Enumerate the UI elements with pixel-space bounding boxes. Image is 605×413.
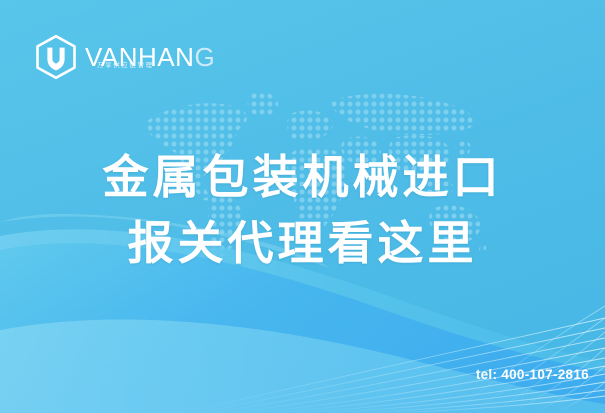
headline-line-1: 金属包装机械进口 bbox=[0, 144, 605, 210]
headline-line-2: 报关代理看这里 bbox=[0, 210, 605, 276]
brand-logo[interactable]: VANHANG 万享供应链管理 bbox=[34, 33, 215, 81]
brand-wordmark-tail: G bbox=[194, 42, 215, 72]
brand-wordmark-group: VANHANG 万享供应链管理 bbox=[85, 37, 215, 77]
brand-subtitle: 万享供应链管理 bbox=[97, 63, 154, 70]
headline-block: 金属包装机械进口 报关代理看这里 bbox=[0, 144, 605, 276]
vanhang-hexagon-shield-icon bbox=[34, 34, 78, 80]
contact-phone[interactable]: tel: 400-107-2816 bbox=[476, 367, 589, 382]
promo-banner: VANHANG 万享供应链管理 金属包装机械进口 报关代理看这里 tel: 40… bbox=[0, 0, 605, 413]
